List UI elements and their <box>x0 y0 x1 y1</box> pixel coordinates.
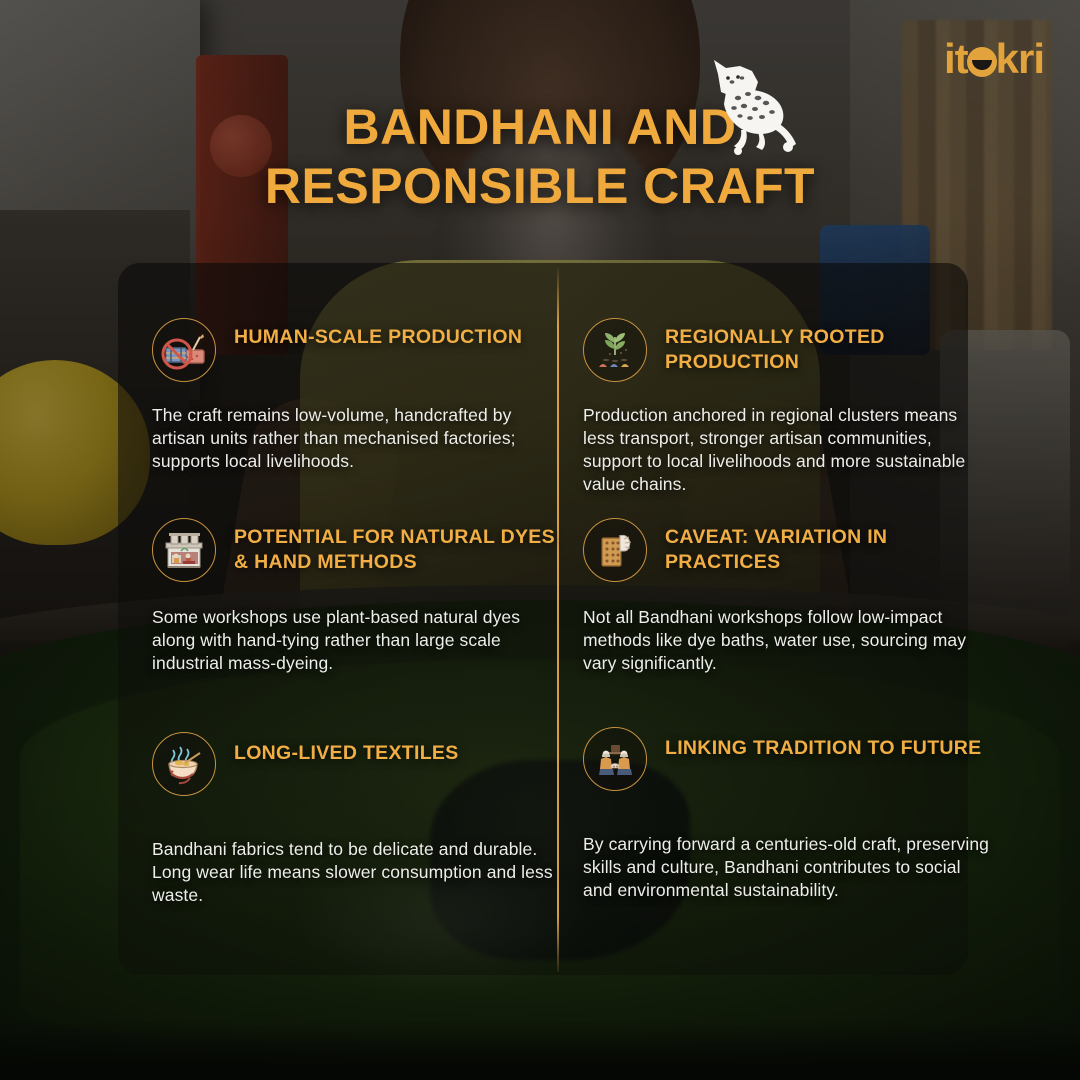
logo-text-part2: kri <box>996 35 1044 82</box>
hand-holding-patterned-fabric-icon <box>583 518 647 582</box>
itokri-logo[interactable]: itkri <box>944 38 1044 80</box>
card-caveat-variation-in-practices: CAVEAT: VARIATION IN PRACTICES Not all B… <box>583 518 993 675</box>
card-title: REGIONALLY ROOTED PRODUCTION <box>665 318 993 374</box>
infographic-canvas: itkri BANDHANI AND RESPONSIBLE CRAFT <box>0 0 1080 1080</box>
artisan-workshop-building-icon <box>152 518 216 582</box>
card-body: The craft remains low-volume, handcrafte… <box>152 404 562 473</box>
card-header: HUMAN-SCALE PRODUCTION <box>152 318 562 382</box>
seedling-dye-powders-icon <box>583 318 647 382</box>
card-title: LINKING TRADITION TO FUTURE <box>665 727 981 761</box>
title-line-2: RESPONSIBLE CRAFT <box>0 157 1080 216</box>
card-header: LINKING TRADITION TO FUTURE <box>583 727 993 791</box>
steaming-dye-pot-icon <box>152 732 216 796</box>
card-body: Bandhani fabrics tend to be delicate and… <box>152 838 562 907</box>
leopard-icon <box>688 52 806 160</box>
card-title: POTENTIAL FOR NATURAL DYES & HAND METHOD… <box>234 518 562 574</box>
card-title: CAVEAT: VARIATION IN PRACTICES <box>665 518 993 574</box>
logo-text-part1: it <box>944 35 968 82</box>
card-long-lived-textiles: LONG-LIVED TEXTILES Bandhani fabrics ten… <box>152 732 562 907</box>
two-artisans-working-icon <box>583 727 647 791</box>
card-title: LONG-LIVED TEXTILES <box>234 732 459 766</box>
card-body: Production anchored in regional clusters… <box>583 404 993 496</box>
card-title: HUMAN-SCALE PRODUCTION <box>234 318 522 350</box>
card-header: POTENTIAL FOR NATURAL DYES & HAND METHOD… <box>152 518 562 582</box>
card-body: By carrying forward a centuries-old craf… <box>583 833 993 902</box>
card-linking-tradition-to-future: LINKING TRADITION TO FUTURE By carrying … <box>583 727 993 902</box>
title-line-1: BANDHANI AND <box>343 99 736 155</box>
card-header: REGIONALLY ROOTED PRODUCTION <box>583 318 993 382</box>
no-factory-machine-icon <box>152 318 216 382</box>
card-regionally-rooted-production: REGIONALLY ROOTED PRODUCTION Production … <box>583 318 993 496</box>
card-body: Some workshops use plant-based natural d… <box>152 606 562 675</box>
page-title: BANDHANI AND RESPONSIBLE CRAFT <box>0 98 1080 216</box>
card-header: CAVEAT: VARIATION IN PRACTICES <box>583 518 993 582</box>
card-body: Not all Bandhani workshops follow low-im… <box>583 606 993 675</box>
logo-basket-icon <box>967 47 997 77</box>
card-human-scale-production: HUMAN-SCALE PRODUCTION The craft remains… <box>152 318 562 473</box>
card-header: LONG-LIVED TEXTILES <box>152 732 562 796</box>
card-natural-dyes-hand-methods: POTENTIAL FOR NATURAL DYES & HAND METHOD… <box>152 518 562 675</box>
